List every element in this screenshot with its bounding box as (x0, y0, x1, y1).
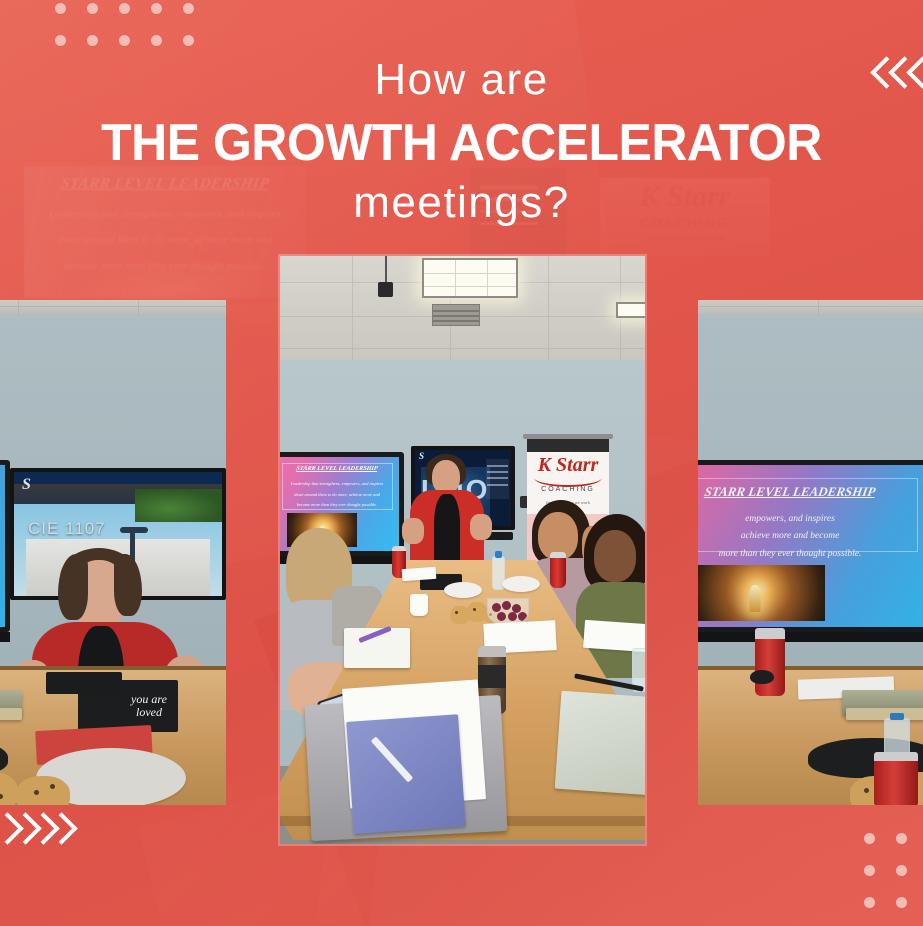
dot-grid-bottom-right (864, 833, 923, 926)
snack-plate (444, 582, 482, 598)
notepad-right (555, 691, 647, 795)
banner-top-bar (523, 434, 613, 439)
coffee-cup (410, 594, 428, 616)
tv-sidebar (486, 459, 509, 499)
social-media-poster: STARR LEVEL LEADERSHIP Leadership that s… (0, 0, 923, 926)
dot (55, 35, 66, 46)
dot (183, 3, 194, 14)
photo-right: STARR LEVEL LEADERSHIP empowers, and ins… (698, 300, 923, 805)
dot (864, 833, 875, 844)
paper-sheet (402, 567, 437, 581)
watermark-slide-line2: those around them to do more, achieve mo… (58, 234, 273, 246)
dot (864, 865, 875, 876)
ceiling (280, 256, 645, 360)
slide-line-1: Leadership that strengthens, empowers, a… (291, 481, 384, 486)
watermark-slide-line1: Leadership that strengthens, empowers, a… (49, 208, 281, 220)
dot (896, 865, 907, 876)
dot (896, 833, 907, 844)
watermark-logo-name: K Starr (640, 180, 731, 214)
slide-title: STARR LEVEL LEADERSHIP (296, 465, 378, 472)
watermark-monitor (470, 168, 566, 254)
dot (119, 3, 130, 14)
watermark-logo-tagline: Impacting how we work (647, 234, 724, 243)
dot (119, 35, 130, 46)
snack-plate (502, 576, 540, 592)
dot (87, 3, 98, 14)
dot (151, 35, 162, 46)
ceiling-light (616, 302, 647, 318)
dot-grid-top-left (55, 3, 215, 67)
watermark-slide-title: STARR LEVEL LEADERSHIP (60, 176, 271, 193)
slide-line-3: become more than they ever thought possi… (297, 502, 377, 507)
watermark-ghost-b (316, 834, 544, 926)
ceiling-light (422, 258, 518, 298)
banner-sub: COACHING (541, 486, 595, 493)
dot (151, 3, 162, 14)
slide-line-2: those around them to do more, achieve mo… (294, 492, 380, 497)
ceiling-vent (432, 304, 480, 326)
photo-left: STARR LEVEL LEADERSHIP empowers, and ins… (0, 300, 226, 805)
photo-center: STARR LEVEL LEADERSHIP Leadership that s… (278, 254, 647, 846)
dot (896, 897, 907, 908)
dot (864, 897, 875, 908)
dot (183, 35, 194, 46)
dot (87, 35, 98, 46)
ceiling-sensor (378, 282, 393, 297)
watermark-logo: K Starr COACHING Impacting how we work (600, 178, 770, 256)
dot (55, 3, 66, 14)
watermark-logo-sub: COACHING (641, 216, 730, 230)
red-tumbler (550, 552, 566, 588)
